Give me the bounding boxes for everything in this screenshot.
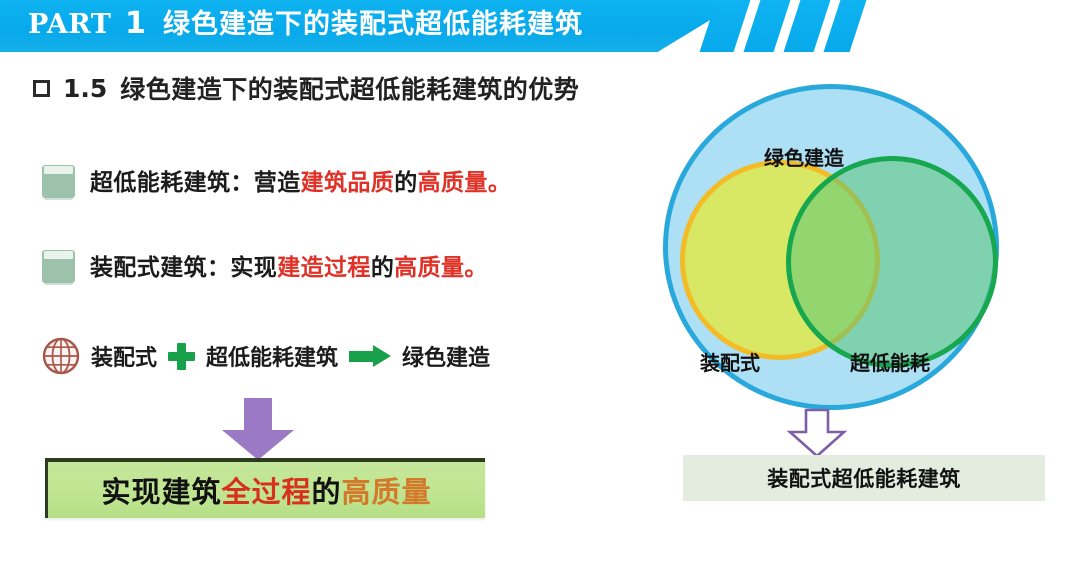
book-icon bbox=[42, 247, 75, 283]
formula-term-2: 超低能耗建筑 bbox=[206, 340, 338, 372]
square-bullet-icon bbox=[33, 80, 50, 97]
formula-result: 绿色建造 bbox=[402, 340, 490, 372]
bullet-1-suffix: 。 bbox=[488, 170, 511, 196]
bullet-2-highlight-1: 建造过程 bbox=[277, 255, 371, 281]
stripe-3 bbox=[784, 0, 831, 52]
conclusion-part-3: 的 bbox=[312, 475, 342, 509]
subtitle-number: 1.5 bbox=[63, 74, 107, 103]
bullet-2-prefix: 装配式建筑：实现 bbox=[90, 255, 277, 281]
stripe-1 bbox=[700, 0, 751, 52]
venn-outer-label: 绿色建造 bbox=[764, 142, 844, 171]
bullet-item-1: 超低能耗建筑：营造建筑品质的高质量。 bbox=[42, 162, 511, 198]
globe-icon bbox=[42, 337, 80, 375]
part-label: PART bbox=[28, 9, 111, 41]
page-title: 绿色建造下的装配式超低能耗建筑 bbox=[163, 7, 583, 43]
bullet-2-suffix: 。 bbox=[464, 255, 487, 281]
conclusion-part-4: 高质量 bbox=[342, 475, 432, 509]
bullet-1-text: 超低能耗建筑：营造建筑品质的高质量。 bbox=[90, 163, 511, 197]
venn-right-label: 超低能耗 bbox=[850, 347, 930, 376]
book-icon bbox=[42, 162, 75, 198]
bullet-1-highlight-2: 高质量 bbox=[418, 170, 488, 196]
formula-term-1: 装配式 bbox=[91, 340, 157, 372]
bullet-2-text: 装配式建筑：实现建造过程的高质量。 bbox=[90, 248, 488, 282]
bullet-2-highlight-2: 高质量 bbox=[394, 255, 464, 281]
formula-row: 装配式 超低能耗建筑 绿色建造 bbox=[42, 337, 490, 375]
venn-result-text: 装配式超低能耗建筑 bbox=[767, 463, 961, 493]
slide-root: PART 1 绿色建造下的装配式超低能耗建筑 1.5 绿色建造下的装配式超低能耗… bbox=[0, 0, 1080, 567]
subtitle-row: 1.5 绿色建造下的装配式超低能耗建筑的优势 bbox=[33, 70, 579, 106]
conclusion-text: 实现建筑全过程的高质量 bbox=[101, 469, 431, 511]
bullet-2-middle: 的 bbox=[371, 255, 394, 281]
subtitle-text: 绿色建造下的装配式超低能耗建筑的优势 bbox=[120, 70, 579, 106]
down-arrow-icon bbox=[222, 398, 294, 460]
arrow-right-icon bbox=[349, 345, 391, 367]
conclusion-part-1: 实现建筑 bbox=[101, 475, 221, 509]
bullet-1-prefix: 超低能耗建筑：营造 bbox=[90, 170, 301, 196]
stripe-2 bbox=[744, 0, 791, 52]
venn-right-circle bbox=[786, 156, 998, 368]
hollow-down-arrow-icon bbox=[786, 408, 848, 458]
stripe-4 bbox=[824, 0, 867, 52]
venn-result-box: 装配式超低能耗建筑 bbox=[683, 455, 1045, 501]
venn-diagram: 绿色建造 装配式 超低能耗 bbox=[660, 82, 1005, 412]
venn-left-label: 装配式 bbox=[700, 347, 760, 376]
conclusion-part-2: 全过程 bbox=[221, 475, 311, 509]
plus-icon bbox=[168, 343, 195, 370]
bullet-item-2: 装配式建筑：实现建造过程的高质量。 bbox=[42, 247, 488, 283]
conclusion-box: 实现建筑全过程的高质量 bbox=[45, 458, 485, 518]
bullet-1-highlight-1: 建筑品质 bbox=[301, 170, 395, 196]
header-decorative-stripes bbox=[700, 0, 930, 52]
part-number: 1 bbox=[125, 7, 146, 41]
bullet-1-middle: 的 bbox=[394, 170, 417, 196]
